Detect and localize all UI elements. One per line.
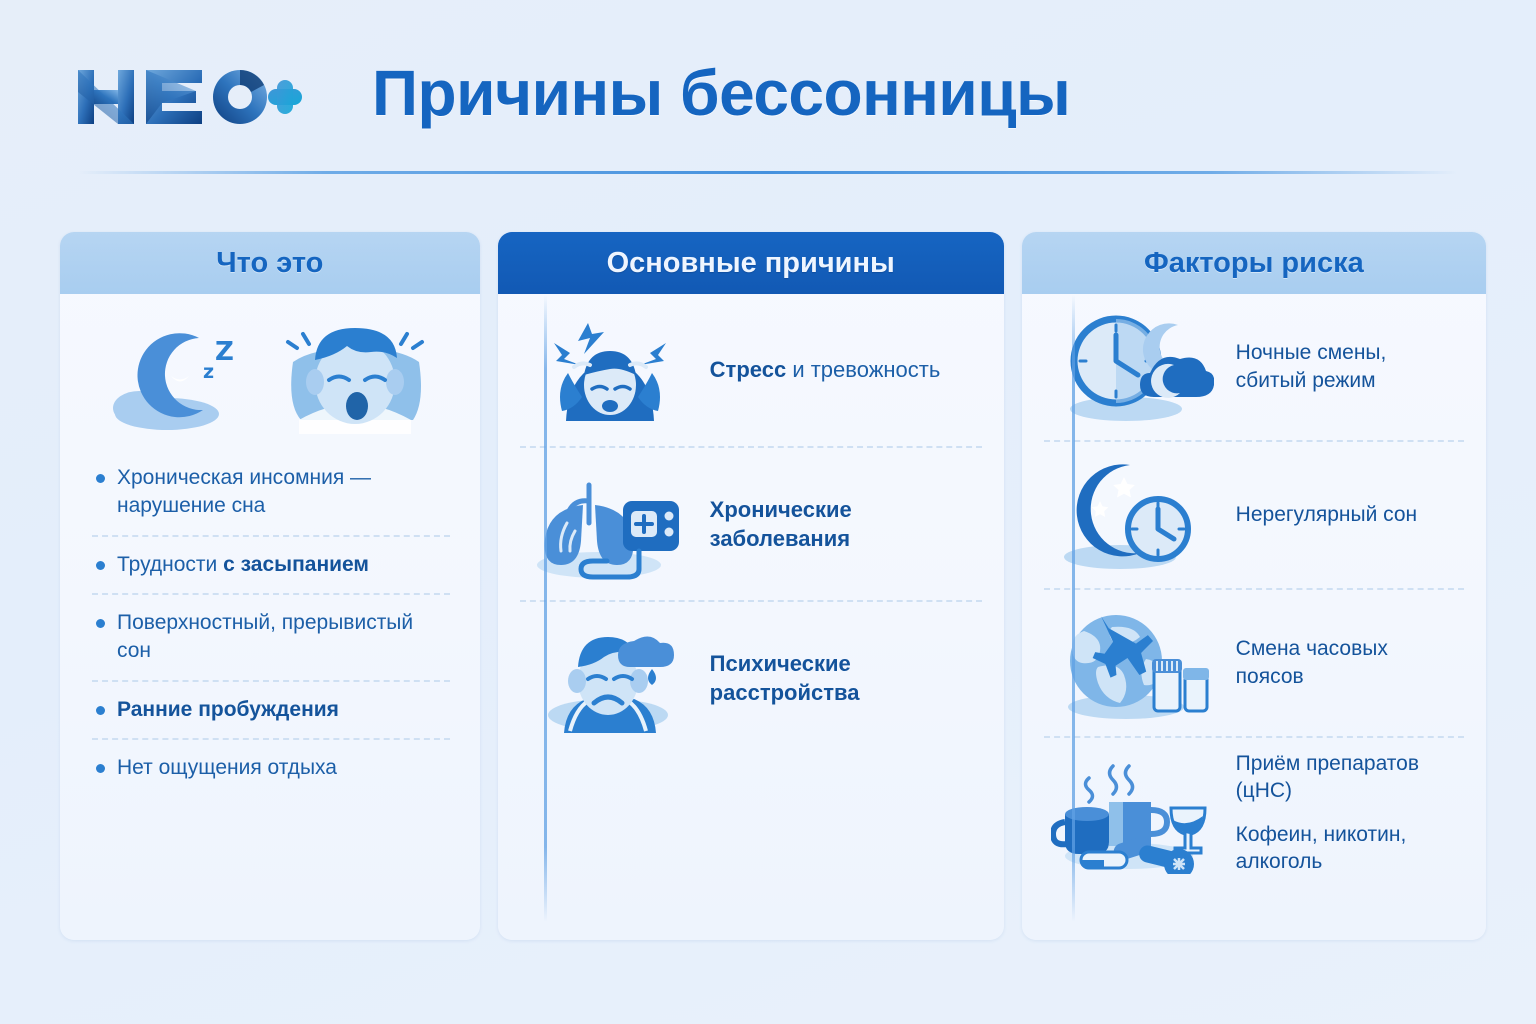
item-label-line-2: сбитый режим bbox=[1236, 369, 1376, 392]
bullet-dot-icon bbox=[96, 561, 105, 570]
item-label-rest: и тревожность bbox=[786, 357, 940, 382]
card-body-what-is-it: Z z bbox=[60, 294, 480, 796]
item-label-bold: Стресс bbox=[710, 357, 787, 382]
cards-container: Что это Z z bbox=[60, 232, 1486, 940]
lungs-monitor-icon bbox=[526, 464, 694, 584]
hero-icons: Z z bbox=[82, 294, 458, 444]
card-what-is-it: Что это Z z bbox=[60, 232, 480, 940]
card-body-main-causes: Стресс и тревожность bbox=[498, 294, 1004, 754]
yawning-person-icon bbox=[279, 316, 429, 434]
list-item: Ночные смены, сбитый режим bbox=[1044, 294, 1464, 442]
page-header: Причины бессонницы bbox=[0, 0, 1536, 170]
card-heading-risk-factors: Факторы риска bbox=[1022, 232, 1486, 294]
page-title: Причины бессонницы bbox=[372, 56, 1070, 130]
list-item: Трудности с засыпанием bbox=[92, 537, 450, 595]
bullet-label: Хроническая инсомния — нарушение сна bbox=[117, 464, 448, 521]
bullet-label: Поверхностный, прерывистый сон bbox=[117, 609, 448, 666]
bullet-label: Ранние пробуждения bbox=[117, 696, 339, 724]
item-label-line-1: Приём препаратов (цНС) bbox=[1236, 750, 1460, 805]
card-heading-what-is-it: Что это bbox=[60, 232, 480, 294]
bullet-dot-icon bbox=[96, 619, 105, 628]
svg-text:Z: Z bbox=[215, 337, 234, 367]
bullet-dot-icon bbox=[96, 706, 105, 715]
list-item: Приём препаратов (цНС) Кофеин, никотин, … bbox=[1044, 738, 1464, 887]
card-risk-factors: Факторы риска bbox=[1022, 232, 1486, 940]
item-label: Ночные смены, сбитый режим bbox=[1236, 339, 1387, 394]
card-heading-main-causes: Основные причины bbox=[498, 232, 1004, 294]
item-label: Хронические заболевания bbox=[710, 495, 976, 553]
item-label: Нерегулярный сон bbox=[1236, 501, 1417, 529]
column-divider-1 bbox=[544, 295, 547, 922]
list-item: Нерегулярный сон bbox=[1044, 442, 1464, 590]
item-label-bold: Психические расстройства bbox=[710, 651, 860, 705]
list-item: Нет ощущения отдыха bbox=[92, 740, 450, 796]
sleeping-moon-icon: Z z bbox=[111, 316, 261, 434]
sad-raincloud-icon bbox=[526, 618, 694, 738]
item-label-line-2: Кофеин, никотин, алкоголь bbox=[1236, 821, 1460, 876]
bullet-dot-icon bbox=[96, 474, 105, 483]
list-item: Поверхностный, прерывистый сон bbox=[92, 595, 450, 682]
card-main-causes: Основные причины bbox=[498, 232, 1004, 940]
header-divider bbox=[78, 171, 1458, 174]
list-item: Стресс и тревожность bbox=[520, 294, 982, 448]
neo-plus-logo bbox=[72, 62, 302, 132]
list-item: Хроническая инсомния — нарушение сна bbox=[92, 450, 450, 537]
card-body-risk-factors: Ночные смены, сбитый режим bbox=[1022, 294, 1486, 887]
stressed-head-icon bbox=[526, 310, 694, 430]
list-item: Хронические заболевания bbox=[520, 448, 982, 602]
column-divider-2 bbox=[1072, 295, 1075, 922]
list-item: Психические расстройства bbox=[520, 602, 982, 754]
item-label-bold: Хронические заболевания bbox=[710, 497, 852, 551]
list-item: Ранние пробуждения bbox=[92, 682, 450, 740]
bullet-label: Нет ощущения отдыха bbox=[117, 754, 337, 782]
item-label: Смена часовых поясов bbox=[1236, 635, 1460, 690]
svg-text:z: z bbox=[203, 361, 214, 383]
item-label-line-1: Ночные смены, bbox=[1236, 341, 1387, 364]
bullet-list: Хроническая инсомния — нарушение сна Тру… bbox=[82, 444, 458, 796]
item-label: Психические расстройства bbox=[710, 649, 976, 707]
bullet-label: Трудности с засыпанием bbox=[117, 551, 369, 579]
bullet-label-emphasis: с засыпанием bbox=[223, 553, 369, 576]
list-item: Смена часовых поясов bbox=[1044, 590, 1464, 738]
bullet-dot-icon bbox=[96, 764, 105, 773]
item-label: Стресс и тревожность bbox=[710, 355, 941, 384]
bullet-label-plain: Трудности bbox=[117, 553, 223, 576]
item-label: Приём препаратов (цНС) Кофеин, никотин, … bbox=[1236, 750, 1460, 875]
